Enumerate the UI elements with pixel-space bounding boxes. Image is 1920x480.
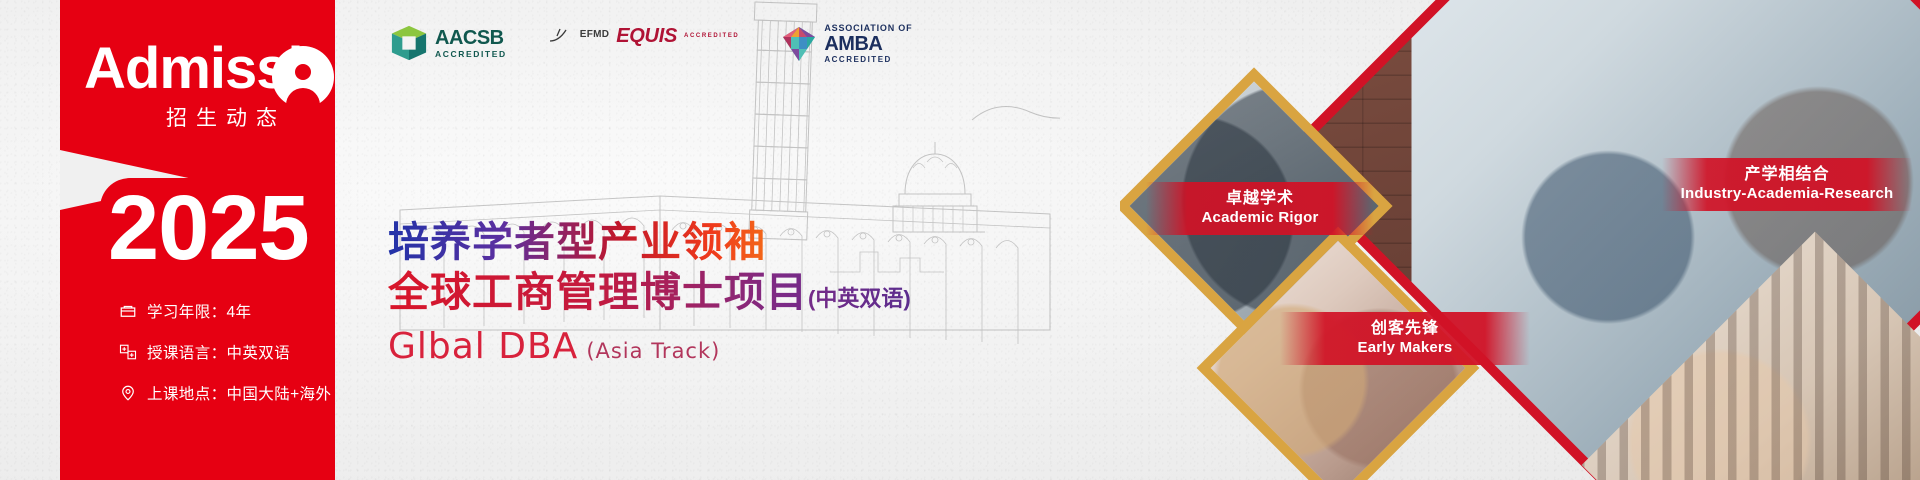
info-label-language: 授课语言：中英双语 <box>147 341 290 363</box>
amba-sublabel: ACCREDITED <box>824 56 912 64</box>
info-label-duration: 学习年限：4年 <box>147 300 251 322</box>
person-in-circle-icon <box>272 46 334 108</box>
info-row-duration: 学习年限：4年 <box>118 300 331 322</box>
program-title-en: Glbal DBA <box>388 326 578 367</box>
tag-industry-academia: 产学相结合 Industry-Academia-Research <box>1662 158 1912 211</box>
tag-industry-academia-cn: 产学相结合 <box>1678 165 1896 185</box>
location-pin-icon <box>118 384 137 403</box>
amba-diamond-icon <box>781 25 817 63</box>
program-title-cn: 全球工商管理博士项目 <box>388 266 808 319</box>
tag-early-makers-en: Early Makers <box>1296 339 1514 358</box>
aacsb-name: AACSB <box>435 28 507 48</box>
headline-block: 培养学者型产业领袖 全球工商管理博士项目 (中英双语) Glbal DBA (A… <box>388 218 911 367</box>
admission-banner: Admissi 招生动态 2025 学习年限：4年 授课语言：中英双语 <box>0 0 1920 480</box>
tag-academic-rigor: 卓越学术 Academic Rigor <box>1146 182 1374 235</box>
admission-logo-text: Admissi <box>84 40 303 98</box>
tag-academic-rigor-cn: 卓越学术 <box>1162 189 1358 209</box>
equis-sublabel: ACCREDITED <box>684 33 739 39</box>
photo-collage: 卓越学术 Academic Rigor 产学相结合 Industry-Acade… <box>1120 0 1920 480</box>
info-label-location: 上课地点：中国大陆+海外 <box>147 382 331 404</box>
year-label: 2025 <box>108 182 309 274</box>
tagline: 培养学者型产业领袖 <box>388 218 911 266</box>
tag-early-makers: 创客先锋 Early Makers <box>1280 312 1530 365</box>
info-row-location: 上课地点：中国大陆+海外 <box>118 382 331 404</box>
efmd-label: EFMD <box>580 30 610 40</box>
language-icon <box>118 343 137 362</box>
aacsb-cube-icon <box>390 24 428 62</box>
tag-industry-academia-en: Industry-Academia-Research <box>1678 185 1896 204</box>
info-row-language: 授课语言：中英双语 <box>118 341 331 363</box>
admission-logo: Admissi 招生动态 <box>84 28 349 133</box>
amba-logo: ASSOCIATION OF AMBA ACCREDITED <box>781 24 912 64</box>
admission-logo-chinese: 招生动态 <box>166 102 286 132</box>
equis-name: EQUIS <box>616 26 677 46</box>
book-icon <box>118 302 137 321</box>
program-title-en-track: (Asia Track) <box>586 339 720 363</box>
program-title-en-row: Glbal DBA (Asia Track) <box>388 326 911 367</box>
aacsb-sublabel: ACCREDITED <box>435 50 507 59</box>
amba-association-label: ASSOCIATION OF <box>824 24 912 33</box>
program-title-cn-row: 全球工商管理博士项目 (中英双语) <box>388 266 911 319</box>
program-info-list: 学习年限：4年 授课语言：中英双语 上课地点：中国大陆+海外 <box>118 300 331 423</box>
tag-early-makers-cn: 创客先锋 <box>1296 319 1514 339</box>
equis-logo: EFMD EQUIS ACCREDITED <box>549 24 740 46</box>
person-head-shape <box>295 64 311 80</box>
person-body-shape <box>286 88 320 108</box>
accreditation-logos: AACSB ACCREDITED EFMD EQUIS ACCREDITED <box>390 24 912 64</box>
program-title-cn-suffix: (中英双语) <box>808 285 911 314</box>
amba-name: AMBA <box>824 34 912 54</box>
tag-academic-rigor-en: Academic Rigor <box>1162 209 1358 228</box>
efmd-swoosh-icon <box>549 28 575 43</box>
aacsb-logo: AACSB ACCREDITED <box>390 24 507 62</box>
